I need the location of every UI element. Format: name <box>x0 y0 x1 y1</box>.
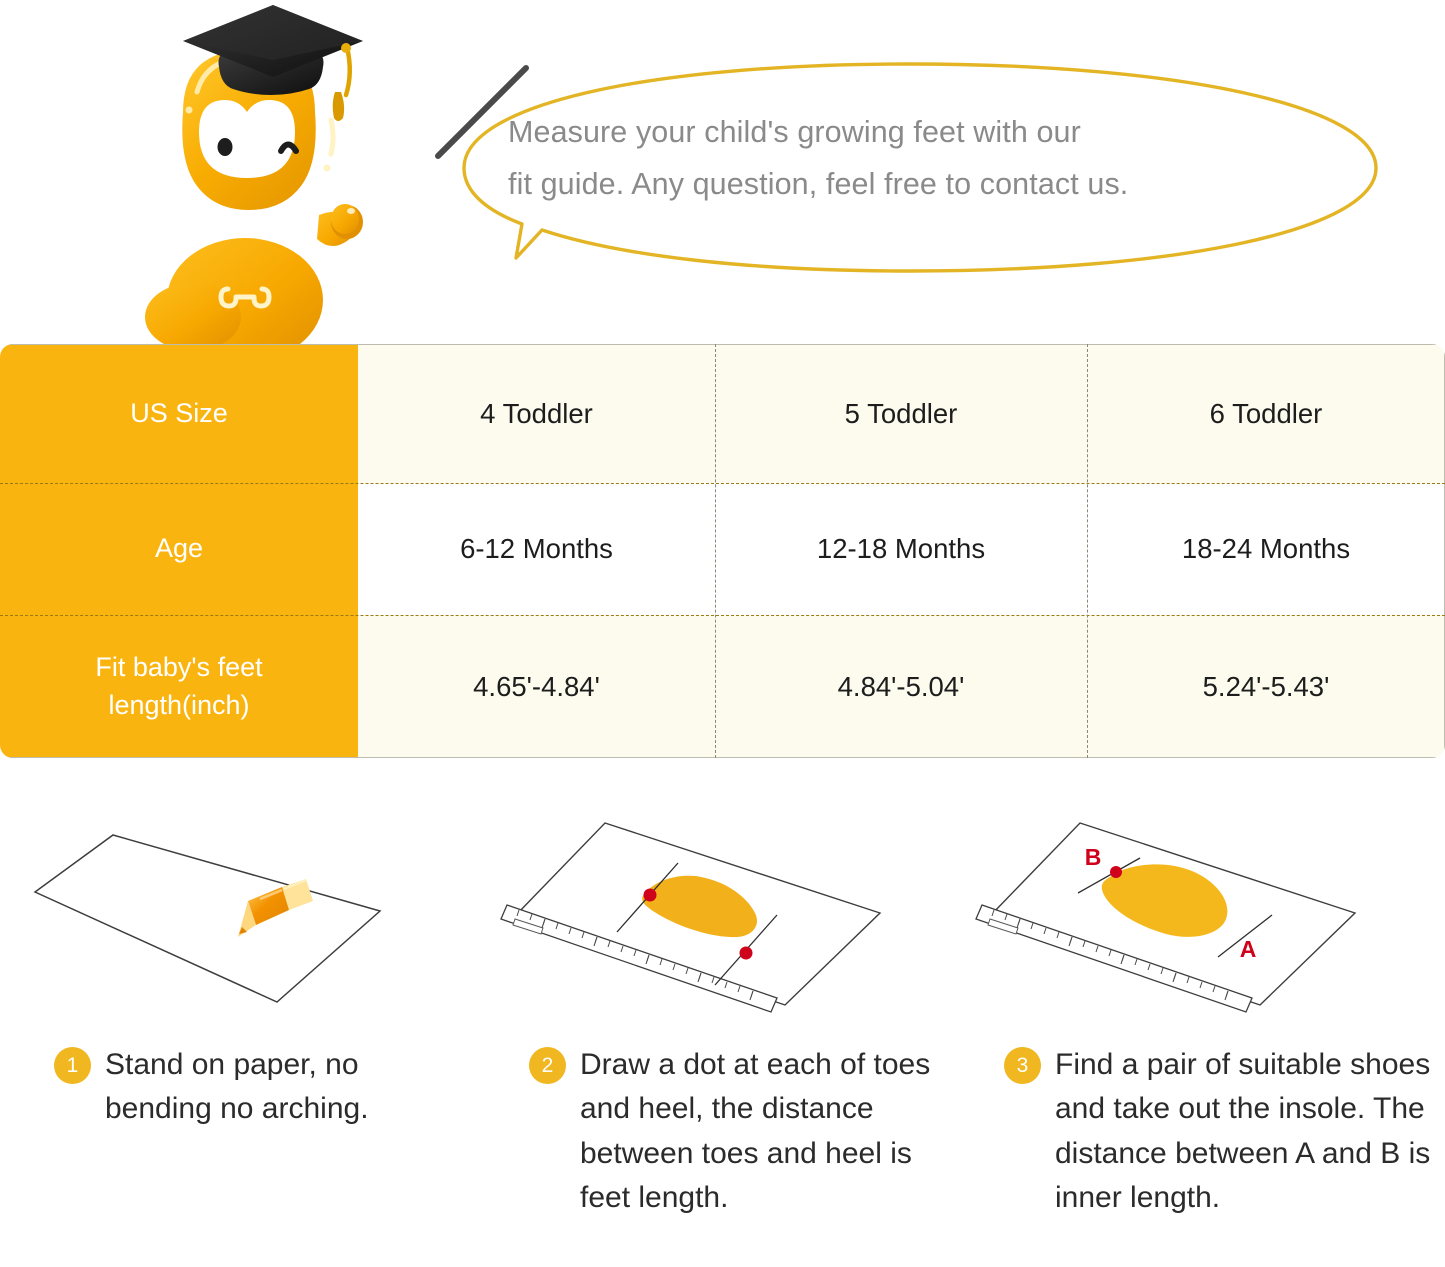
paper-ruler-insole-icon: B A <box>960 815 1430 1030</box>
toe-dot <box>644 889 657 902</box>
table-row: Fit baby's feet length(inch) 4.65'-4.84'… <box>0 615 1445 758</box>
row-header-feet-length: Fit baby's feet length(inch) <box>0 615 358 758</box>
speech-bubble: Measure your child's growing feet with o… <box>430 58 1390 283</box>
table-row: Age 6-12 Months 12-18 Months 18-24 Month… <box>0 483 1445 615</box>
step-1-caption: 1 Stand on paper, no bending no arching. <box>54 1043 469 1132</box>
mascot-arm <box>317 204 363 246</box>
step-2-text: Draw a dot at each of toes and heel, the… <box>580 1043 944 1221</box>
paper-with-pencil-icon <box>10 815 480 1030</box>
step-3: B A 3 Find a pair of suitable shoes and … <box>960 815 1430 1267</box>
cell-age-col2: 12-18 Months <box>715 483 1087 615</box>
row-header-label: US Size <box>130 398 228 428</box>
cell-us-size-col3: 6 Toddler <box>1087 344 1445 483</box>
row-header-label-line1: Fit baby's feet <box>8 649 350 686</box>
speech-line-2: fit guide. Any question, feel free to co… <box>508 158 1318 210</box>
column-divider-2 <box>1087 344 1088 758</box>
column-divider-1 <box>715 344 716 758</box>
cell-age-col1: 6-12 Months <box>358 483 715 615</box>
row-header-label-line2: length(inch) <box>8 687 350 724</box>
row-header-age: Age <box>0 483 358 615</box>
row-divider-2 <box>0 615 1445 616</box>
cell-feet-length-col2: 4.84'-5.04' <box>715 615 1087 758</box>
cell-age-col3: 18-24 Months <box>1087 483 1445 615</box>
row-header-label: Age <box>155 533 203 563</box>
cell-us-size-col2: 5 Toddler <box>715 344 1087 483</box>
row-divider-1 <box>0 483 1445 484</box>
label-b: B <box>1085 844 1102 870</box>
step-1-badge: 1 <box>54 1047 91 1084</box>
label-a: A <box>1240 936 1257 962</box>
step-1-text: Stand on paper, no bending no arching. <box>105 1043 469 1132</box>
speech-bubble-text: Measure your child's growing feet with o… <box>508 106 1318 211</box>
cell-feet-length-col1: 4.65'-4.84' <box>358 615 715 758</box>
heel-dot <box>740 947 753 960</box>
paper-ruler-foot-icon <box>485 815 955 1030</box>
table-top-edge <box>0 344 1445 345</box>
step-3-badge: 3 <box>1004 1047 1041 1084</box>
speech-line-1: Measure your child's growing feet with o… <box>508 106 1318 158</box>
step-1: 1 Stand on paper, no bending no arching. <box>10 815 480 1267</box>
step-2: 2 Draw a dot at each of toes and heel, t… <box>485 815 955 1267</box>
step-2-badge: 2 <box>529 1047 566 1084</box>
table-row: US Size 4 Toddler 5 Toddler 6 Toddler <box>0 344 1445 483</box>
mascot-body <box>145 238 323 345</box>
step-2-caption: 2 Draw a dot at each of toes and heel, t… <box>529 1043 944 1221</box>
point-b-dot <box>1110 866 1122 878</box>
fit-guide-page: Measure your child's growing feet with o… <box>0 0 1445 1267</box>
step-3-caption: 3 Find a pair of suitable shoes and take… <box>1004 1043 1434 1221</box>
measurement-steps: 1 Stand on paper, no bending no arching. <box>0 815 1445 1267</box>
graduate-mascot <box>95 0 425 345</box>
size-chart: US Size 4 Toddler 5 Toddler 6 Toddler Ag… <box>0 344 1445 758</box>
row-header-us-size: US Size <box>0 344 358 483</box>
mascot-eye-open <box>218 138 233 156</box>
step-3-text: Find a pair of suitable shoes and take o… <box>1055 1043 1434 1221</box>
cell-us-size-col1: 4 Toddler <box>358 344 715 483</box>
table-bottom-edge <box>0 757 1445 758</box>
cell-feet-length-col3: 5.24'-5.43' <box>1087 615 1445 758</box>
size-chart-table: US Size 4 Toddler 5 Toddler 6 Toddler Ag… <box>0 344 1445 758</box>
